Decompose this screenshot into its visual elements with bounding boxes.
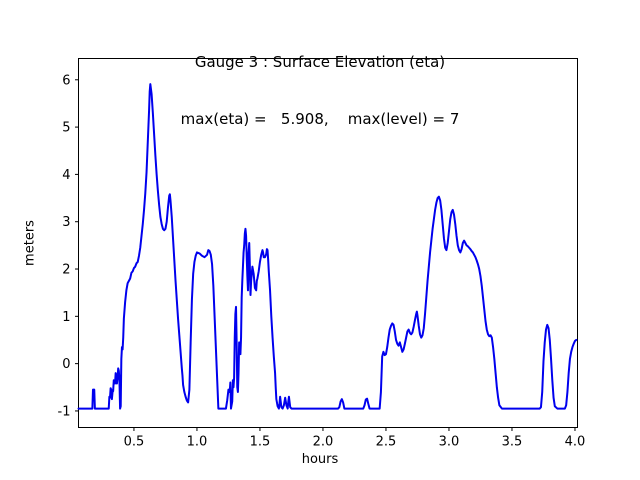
svg-text:3: 3 xyxy=(62,215,70,230)
x-axis-label: hours xyxy=(0,452,640,467)
y-axis-label: meters xyxy=(23,220,38,266)
svg-text:3.5: 3.5 xyxy=(502,435,523,450)
svg-text:2: 2 xyxy=(62,263,70,278)
svg-text:2.5: 2.5 xyxy=(376,435,397,450)
svg-text:-1: -1 xyxy=(58,404,71,419)
svg-text:6: 6 xyxy=(62,73,70,88)
x-axis-ticks: 0.51.01.52.02.53.03.54.0 xyxy=(124,428,586,450)
figure-canvas: Gauge 3 : Surface Elevation (eta) max(et… xyxy=(0,0,640,480)
svg-text:1: 1 xyxy=(62,310,70,325)
y-axis-ticks: -10123456 xyxy=(58,73,79,419)
svg-text:4.0: 4.0 xyxy=(565,435,586,450)
series-line-eta xyxy=(79,84,577,408)
svg-text:5: 5 xyxy=(62,121,70,136)
plot-area: -10123456 0.51.01.52.02.53.03.54.0 xyxy=(0,0,640,480)
svg-text:1.5: 1.5 xyxy=(250,435,271,450)
svg-text:3.0: 3.0 xyxy=(439,435,460,450)
svg-text:0: 0 xyxy=(62,357,70,372)
svg-text:2.0: 2.0 xyxy=(313,435,334,450)
svg-text:1.0: 1.0 xyxy=(187,435,208,450)
svg-text:4: 4 xyxy=(62,168,70,183)
svg-text:0.5: 0.5 xyxy=(124,435,145,450)
